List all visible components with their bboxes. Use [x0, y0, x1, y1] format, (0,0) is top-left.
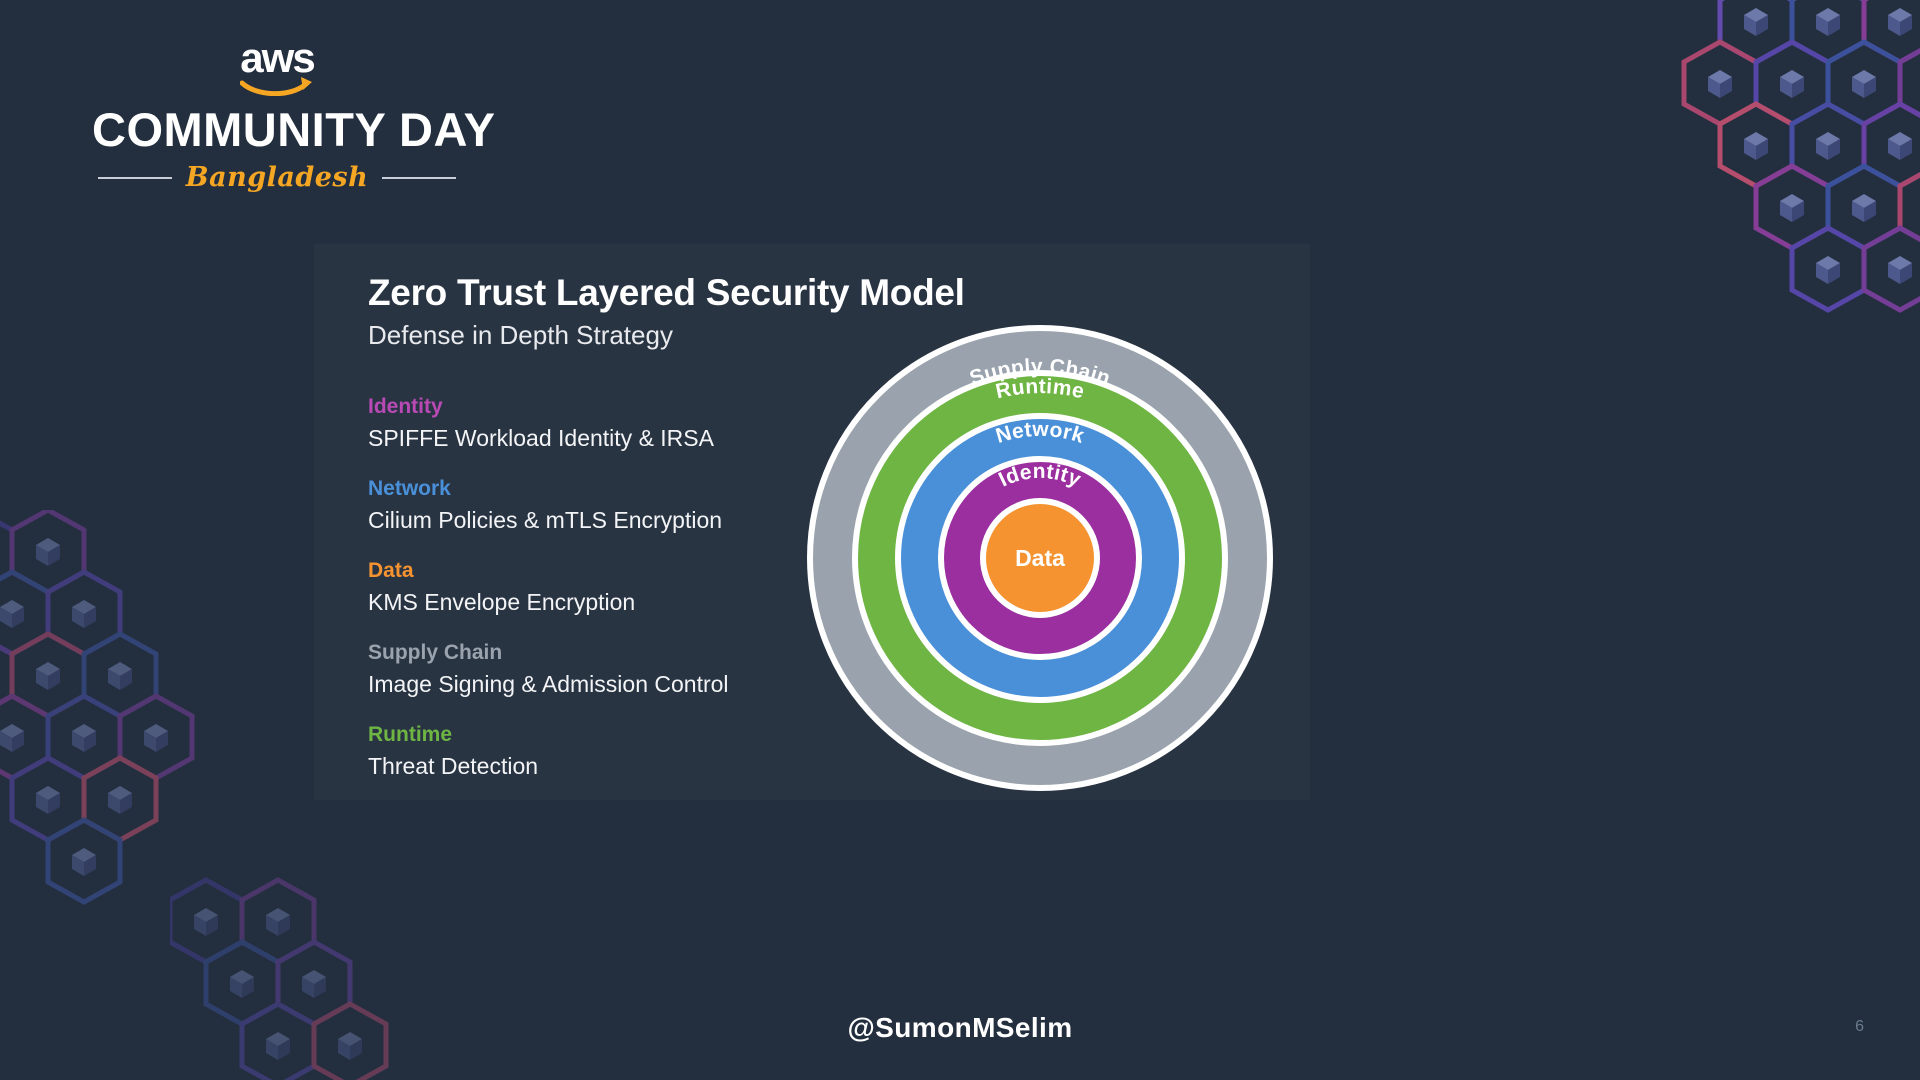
- aws-logo: aws: [232, 40, 322, 98]
- divider-right: [382, 177, 456, 179]
- layer-legend-list: Identity SPIFFE Workload Identity & IRSA…: [368, 392, 788, 802]
- list-item: Runtime Threat Detection: [368, 720, 788, 782]
- legend-description: SPIFFE Workload Identity & IRSA: [368, 422, 788, 454]
- legend-description: Threat Detection: [368, 750, 788, 782]
- page-title: Zero Trust Layered Security Model: [368, 272, 965, 314]
- center-label-data: Data: [1015, 545, 1065, 571]
- page-subtitle: Defense in Depth Strategy: [368, 320, 673, 351]
- page-number: 6: [1855, 1018, 1864, 1036]
- divider-left: [98, 177, 172, 179]
- legend-term: Identity: [368, 392, 788, 422]
- hexagon-cluster-icon: [0, 510, 300, 930]
- legend-term: Network: [368, 474, 788, 504]
- legend-term: Supply Chain: [368, 638, 788, 668]
- presenter-handle: @SumonMSelim: [0, 1012, 1920, 1044]
- legend-description: KMS Envelope Encryption: [368, 586, 788, 618]
- event-name: COMMUNITY DAY: [92, 104, 462, 156]
- zero-trust-ring-diagram: Supply Chain Runtime Network Identity Da…: [800, 318, 1280, 798]
- aws-wordmark: aws: [232, 40, 322, 76]
- aws-smile-icon: [240, 74, 314, 96]
- hexagon-cluster-icon: [1570, 0, 1920, 380]
- hexagon-cluster-icon: [170, 860, 430, 1080]
- list-item: Identity SPIFFE Workload Identity & IRSA: [368, 392, 788, 454]
- event-logo: aws COMMUNITY DAY Bangladesh: [92, 40, 462, 193]
- legend-description: Cilium Policies & mTLS Encryption: [368, 504, 788, 536]
- logo-subtitle-row: Bangladesh: [92, 162, 462, 193]
- legend-term: Runtime: [368, 720, 788, 750]
- list-item: Supply Chain Image Signing & Admission C…: [368, 638, 788, 700]
- legend-term: Data: [368, 556, 788, 586]
- list-item: Data KMS Envelope Encryption: [368, 556, 788, 618]
- legend-description: Image Signing & Admission Control: [368, 668, 788, 700]
- country-label: Bangladesh: [186, 162, 368, 193]
- list-item: Network Cilium Policies & mTLS Encryptio…: [368, 474, 788, 536]
- slide-root: aws COMMUNITY DAY Bangladesh Zero Trust …: [0, 0, 1920, 1080]
